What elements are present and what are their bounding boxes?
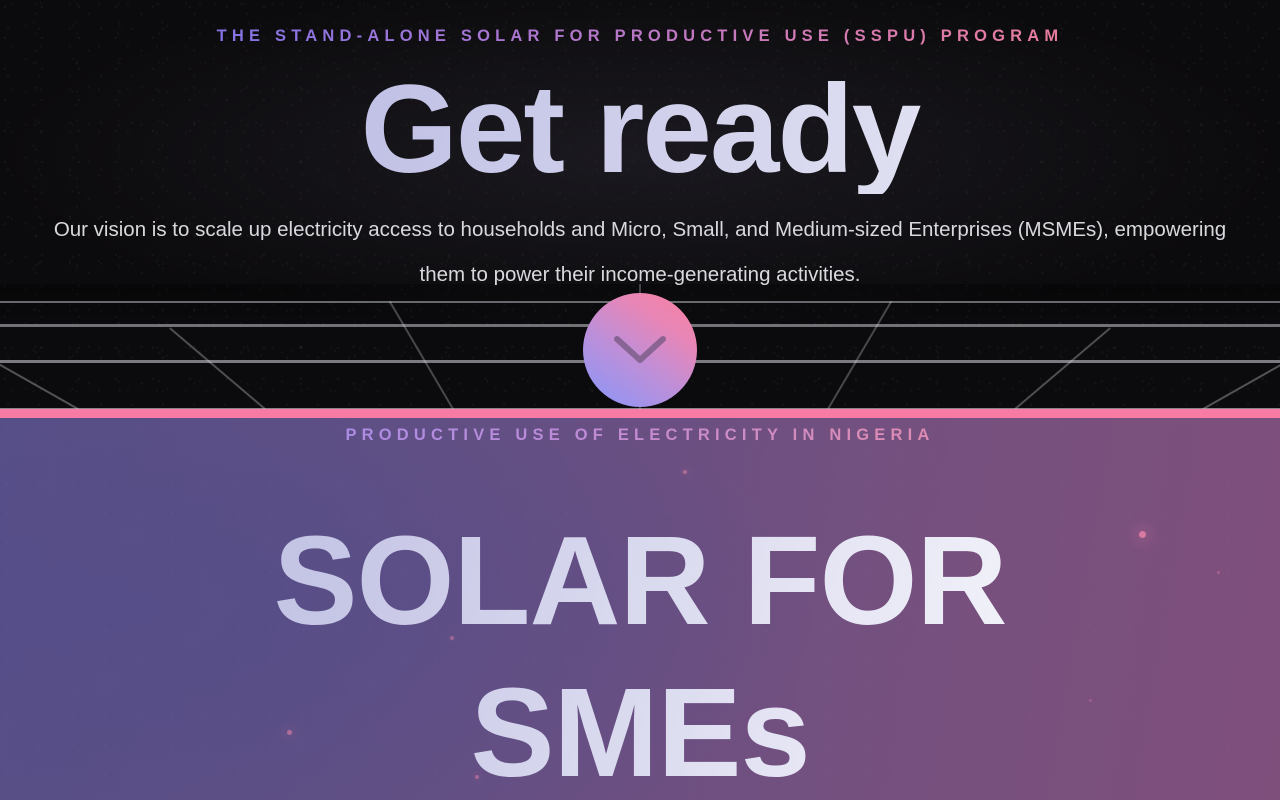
grid-diagonal-line	[388, 301, 453, 409]
grid-diagonal-line	[169, 327, 266, 409]
grid-diagonal-line	[1014, 327, 1111, 409]
page-root: THE STAND-ALONE SOLAR FOR PRODUCTIVE USE…	[0, 0, 1280, 800]
hero-title: Get ready	[0, 66, 1280, 194]
band-title-line-2: SMEs	[470, 662, 809, 800]
hero-section: THE STAND-ALONE SOLAR FOR PRODUCTIVE USE…	[0, 0, 1280, 409]
band-title-line-1: SOLAR FOR	[274, 510, 1007, 651]
hero-eyebrow-label: THE STAND-ALONE SOLAR FOR PRODUCTIVE USE…	[0, 27, 1280, 46]
grid-diagonal-line	[827, 301, 892, 409]
grid-diagonal-line	[1202, 347, 1280, 409]
band-eyebrow-label: PRODUCTIVE USE OF ELECTRICITY IN NIGERIA	[0, 426, 1280, 445]
band-title: SOLAR FOR SMEs	[0, 505, 1280, 800]
chevron-down-icon	[612, 333, 668, 367]
scroll-down-button[interactable]	[583, 293, 697, 407]
pink-divider-bar	[0, 409, 1280, 418]
grid-diagonal-line	[0, 347, 78, 409]
hero-subtitle: Our vision is to scale up electricity ac…	[40, 207, 1240, 297]
background-particle	[683, 470, 687, 474]
